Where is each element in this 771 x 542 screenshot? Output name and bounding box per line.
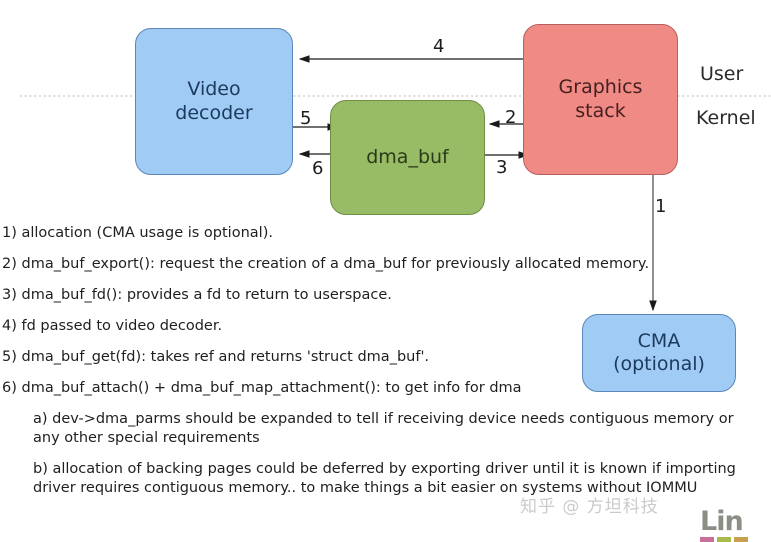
node-cma[interactable]: CMA (optional) [582,314,736,392]
node-video-decoder[interactable]: Video decoder [135,28,293,175]
arrow-label-4: 4 [433,36,444,57]
node-graphics-stack-label: Graphics stack [559,76,643,122]
watermark-logo-text: Lin [700,508,748,535]
watermark-logo: Lin [700,508,748,542]
legend-item-1: 1) allocation (CMA usage is optional). [2,224,768,243]
diagram-canvas: Video decoder dma_buf Graphics stack CMA… [0,0,771,538]
arrow-label-2: 2 [505,107,516,128]
node-graphics-stack[interactable]: Graphics stack [523,24,678,175]
arrow-label-1: 1 [655,196,666,217]
node-cma-label: CMA (optional) [613,330,705,376]
legend-sub-item-b: b) allocation of backing pages could be … [33,460,755,497]
boundary-label-kernel: Kernel [696,107,756,129]
node-dma-buf[interactable]: dma_buf [330,100,485,215]
legend-item-3: 3) dma_buf_fd(): provides a fd to return… [2,286,768,305]
boundary-label-user: User [700,63,743,85]
legend-sub-item-a: a) dev->dma_parms should be expanded to … [33,410,755,447]
node-video-decoder-label: Video decoder [175,78,252,124]
legend-item-2: 2) dma_buf_export(): request the creatio… [2,255,768,274]
arrow-label-6: 6 [312,158,323,179]
node-dma-buf-label: dma_buf [366,146,449,169]
arrow-label-3: 3 [496,157,507,178]
arrow-label-5: 5 [300,108,311,129]
